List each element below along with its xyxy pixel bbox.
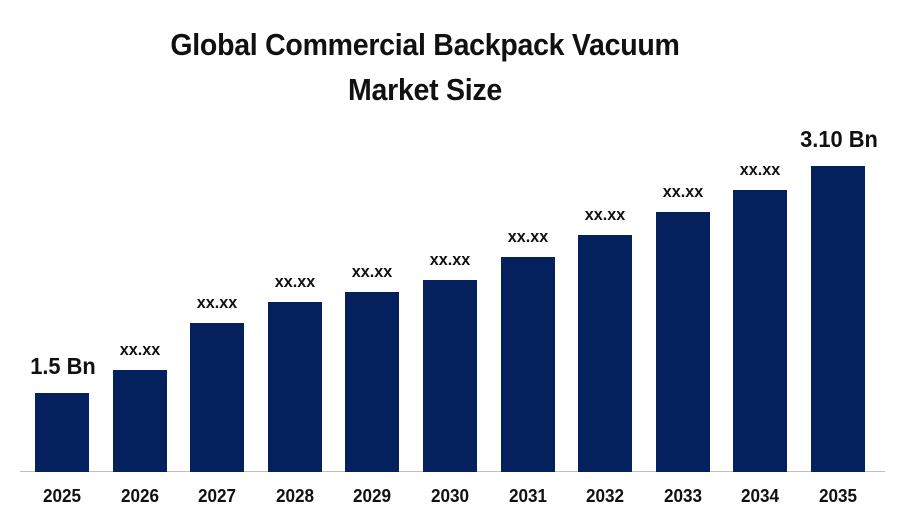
bar-2031[interactable] — [501, 257, 555, 472]
plot-area: 1.5 Bnxx.xxxx.xxxx.xxxx.xxxx.xxxx.xxxx.x… — [0, 0, 900, 525]
bar-value-label-2026: xx.xx — [88, 340, 193, 360]
bar-value-label-2033: xx.xx — [631, 182, 736, 202]
bar-value-label-2030: xx.xx — [398, 250, 503, 270]
bar-2028[interactable] — [268, 302, 322, 472]
bar-2027[interactable] — [190, 323, 244, 472]
x-tick-2035: 2035 — [786, 486, 891, 507]
bar-2029[interactable] — [345, 292, 399, 472]
bar-2025[interactable] — [35, 393, 89, 472]
bar-2032[interactable] — [578, 235, 632, 472]
bar-value-label-2027: xx.xx — [165, 293, 270, 313]
bar-value-label-2031: xx.xx — [476, 227, 581, 247]
bar-2035[interactable] — [811, 166, 865, 472]
bar-2033[interactable] — [656, 212, 710, 472]
bar-2030[interactable] — [423, 280, 477, 472]
bar-value-label-2032: xx.xx — [553, 205, 658, 225]
bar-2034[interactable] — [733, 190, 787, 472]
bar-value-label-2034: xx.xx — [708, 160, 813, 180]
bar-2026[interactable] — [113, 370, 167, 472]
bar-value-label-2035: 3.10 Bn — [773, 126, 900, 153]
chart-container: Global Commercial Backpack Vacuum Market… — [0, 0, 900, 525]
